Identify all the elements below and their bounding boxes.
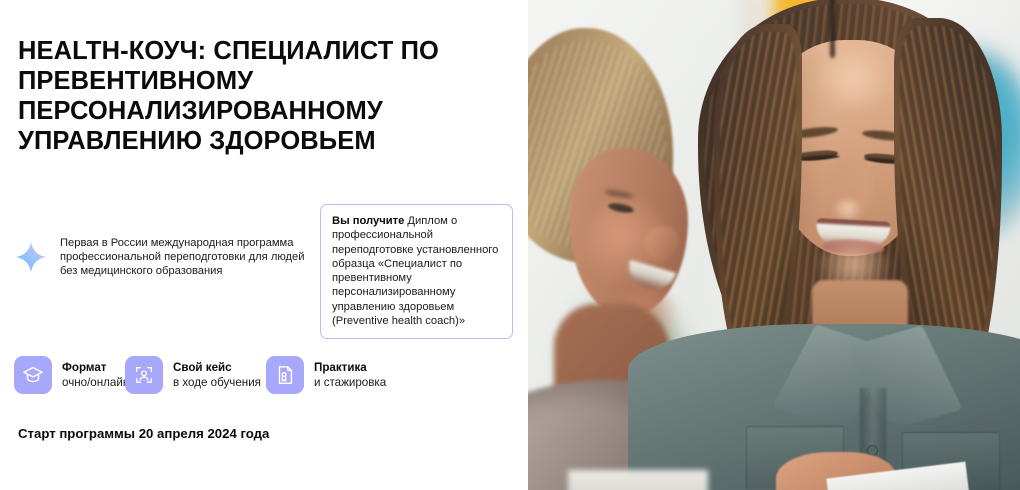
person-frame-icon (125, 356, 163, 394)
page-title: HEALTH-КОУЧ: СПЕЦИАЛИСТ ПО ПРЕВЕНТИВНОМУ… (18, 36, 488, 156)
diploma-callout-box: Вы получите Диплом о профессиональной пе… (320, 204, 513, 339)
sparkle-icon (14, 240, 48, 274)
feature-subtitle: в ходе обучения (173, 375, 261, 390)
feature-item-format: Формат очно/онлайн (14, 356, 102, 394)
landing-hero-page: HEALTH-КОУЧ: СПЕЦИАЛИСТ ПО ПРЕВЕНТИВНОМУ… (0, 0, 1020, 490)
certificate-document-icon (266, 356, 304, 394)
feature-subtitle: очно/онлайн (62, 375, 129, 390)
feature-item-own-case: Свой кейс в ходе обучения (125, 356, 243, 394)
main-hair-part (830, 0, 835, 58)
feature-title: Свой кейс (173, 361, 261, 375)
program-start-date: Старт программы 20 апреля 2024 года (18, 425, 269, 443)
main-nose-tip (832, 200, 866, 220)
hero-photo (528, 0, 1020, 490)
feature-title: Практика (314, 361, 386, 375)
graduation-cap-icon (14, 356, 52, 394)
program-highlight-text: Первая в России международная программа … (60, 236, 314, 279)
diploma-lead-label: Вы получите (332, 215, 404, 227)
feature-list: Формат очно/онлайн Свой кейс (14, 356, 376, 394)
feature-item-format-text: Формат очно/онлайн (62, 361, 129, 390)
photo-desk-surface (568, 470, 708, 490)
hero-photo-scene (528, 0, 1020, 490)
photo-person-main-brunette (680, 0, 1020, 490)
feature-item-own-case-text: Свой кейс в ходе обучения (173, 361, 261, 390)
main-forehead-highlight (808, 50, 900, 108)
feature-subtitle: и стажировка (314, 375, 386, 390)
diploma-body-text: Диплом о профессиональной переподготовке… (332, 215, 498, 327)
feature-item-practice-text: Практика и стажировка (314, 361, 386, 390)
feature-item-practice: Практика и стажировка (266, 356, 376, 394)
blonde-nose (644, 226, 678, 260)
feature-title: Формат (62, 361, 129, 375)
program-highlight: Первая в России международная программа … (14, 236, 314, 279)
left-content-column: HEALTH-КОУЧ: СПЕЦИАЛИСТ ПО ПРЕВЕНТИВНОМУ… (0, 0, 528, 490)
